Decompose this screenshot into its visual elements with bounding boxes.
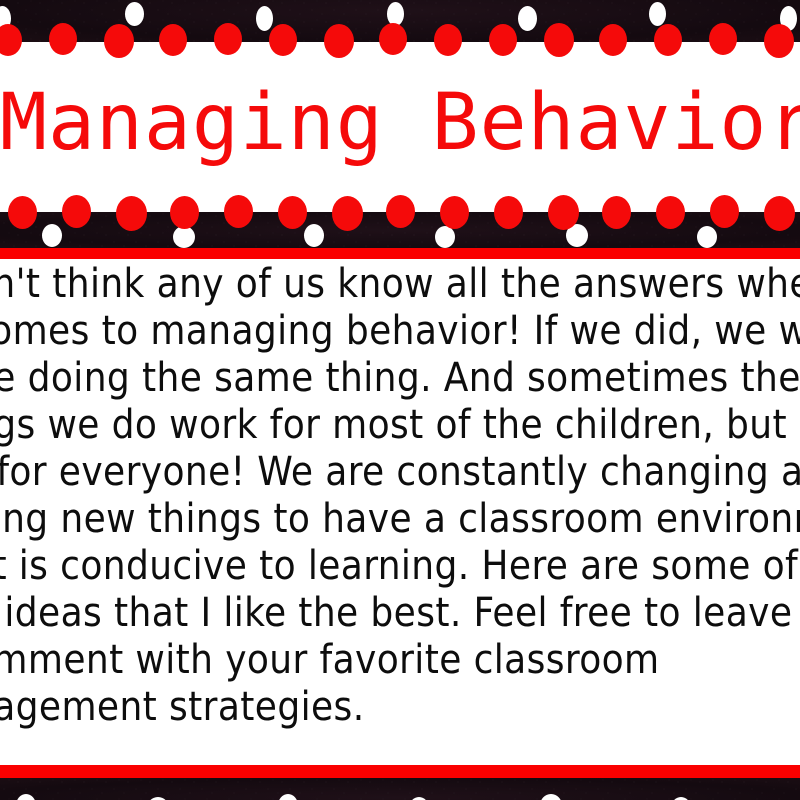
- red-polka-dot: [602, 196, 631, 229]
- body-line: e ideas that I like the best. Feel free …: [0, 590, 800, 637]
- red-polka-dot: [656, 196, 685, 229]
- red-polka-dot: [269, 24, 297, 56]
- white-polka-dot: [42, 224, 62, 247]
- red-polka-dot: [159, 24, 187, 56]
- white-polka-dot: [540, 794, 562, 800]
- red-polka-dot: [214, 23, 242, 55]
- body-line: be doing the same thing. And sometimes t…: [0, 355, 800, 402]
- white-polka-dot: [697, 226, 717, 248]
- red-polka-dot: [324, 24, 354, 58]
- white-polka-dot: [649, 2, 666, 26]
- red-polka-dot: [332, 196, 363, 231]
- red-polka-dot: [494, 196, 523, 229]
- red-polka-dot: [544, 23, 574, 57]
- red-polka-dot: [709, 23, 737, 55]
- red-polka-dot: [599, 24, 627, 56]
- body-line: at is conducive to learning. Here are so…: [0, 543, 800, 590]
- white-polka-dot: [518, 6, 537, 31]
- body-paragraph: on't think any of us know all the answer…: [0, 261, 800, 731]
- body-line: omment with your favorite classroom: [0, 637, 800, 684]
- red-polka-dot: [170, 196, 199, 229]
- red-polka-dot: [710, 195, 739, 228]
- white-polka-dot: [16, 794, 36, 800]
- red-polka-dot: [434, 24, 462, 56]
- white-polka-dot: [125, 2, 144, 26]
- red-polka-dot: [278, 196, 307, 229]
- red-polka-dot: [379, 23, 407, 55]
- blog-post-graphic: Managing Behavior on't think any of us k…: [0, 0, 800, 800]
- red-polka-dot: [654, 24, 682, 56]
- white-polka-dot: [304, 224, 324, 247]
- red-polka-dot: [116, 196, 147, 231]
- red-polka-dot: [440, 196, 469, 229]
- body-line: ngs we do work for most of the children,…: [0, 402, 800, 449]
- white-polka-dot: [256, 6, 273, 31]
- body-line: nagement strategies.: [0, 684, 800, 731]
- black-polka-dot-band-bottom: [0, 778, 800, 800]
- body-text-area: on't think any of us know all the answer…: [0, 259, 800, 765]
- body-line: t for everyone! We are constantly changi…: [0, 449, 800, 496]
- red-polka-dot: [0, 24, 22, 56]
- white-polka-dot: [173, 226, 195, 248]
- body-line: comes to managing behavior! If we did, w…: [0, 308, 800, 355]
- red-polka-dot: [764, 24, 794, 58]
- red-polka-dot: [489, 24, 517, 56]
- body-line: on't think any of us know all the answer…: [0, 261, 800, 308]
- white-polka-dot: [435, 226, 455, 248]
- red-polka-dot: [386, 195, 415, 228]
- red-polka-dot: [8, 196, 37, 229]
- red-stripe-middle: [0, 248, 800, 259]
- red-stripe-bottom: [0, 765, 800, 778]
- red-polka-dot: [49, 23, 77, 55]
- red-polka-dot: [224, 195, 253, 228]
- red-polka-dot: [764, 196, 795, 231]
- red-polka-dot: [104, 24, 134, 58]
- title-area: Managing Behavior: [0, 62, 800, 197]
- page-title: Managing Behavior: [0, 68, 800, 178]
- body-line: ying new things to have a classroom envi…: [0, 496, 800, 543]
- red-polka-dot: [62, 195, 91, 228]
- white-polka-dot: [278, 794, 298, 800]
- red-polka-dot: [548, 195, 579, 230]
